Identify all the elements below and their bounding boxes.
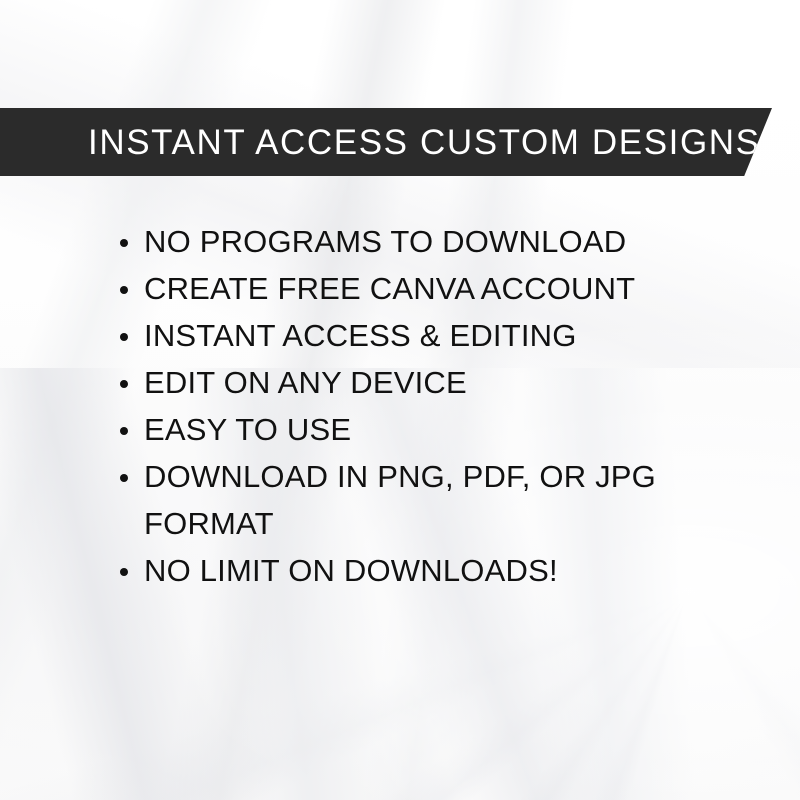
bullet-icon [120,474,128,482]
bullet-icon [120,380,128,388]
bullet-icon [120,568,128,576]
feature-list: NO PROGRAMS TO DOWNLOAD CREATE FREE CANV… [118,218,738,594]
bullet-icon [120,427,128,435]
list-item-label: EASY TO USE [144,412,351,447]
bullet-icon [120,239,128,247]
header-banner: INSTANT ACCESS CUSTOM DESIGNS [0,108,772,176]
list-item-label: NO PROGRAMS TO DOWNLOAD [144,224,626,259]
list-item: INSTANT ACCESS & EDITING [118,312,738,359]
bullet-icon [120,333,128,341]
list-item: DOWNLOAD IN PNG, PDF, OR JPG FORMAT [118,453,664,547]
list-item-label: NO LIMIT ON DOWNLOADS! [144,553,558,588]
list-item: EASY TO USE [118,406,738,453]
list-item-label: EDIT ON ANY DEVICE [144,365,467,400]
list-item: CREATE FREE CANVA ACCOUNT [118,265,738,312]
list-item-label: DOWNLOAD IN PNG, PDF, OR JPG FORMAT [144,459,656,541]
promo-graphic: INSTANT ACCESS CUSTOM DESIGNS NO PROGRAM… [0,0,800,800]
list-item: NO LIMIT ON DOWNLOADS! [118,547,738,594]
list-item: EDIT ON ANY DEVICE [118,359,738,406]
list-item-label: INSTANT ACCESS & EDITING [144,318,577,353]
list-item-label: CREATE FREE CANVA ACCOUNT [144,271,635,306]
bullet-icon [120,286,128,294]
banner-title: INSTANT ACCESS CUSTOM DESIGNS [88,125,761,160]
list-item: NO PROGRAMS TO DOWNLOAD [118,218,738,265]
